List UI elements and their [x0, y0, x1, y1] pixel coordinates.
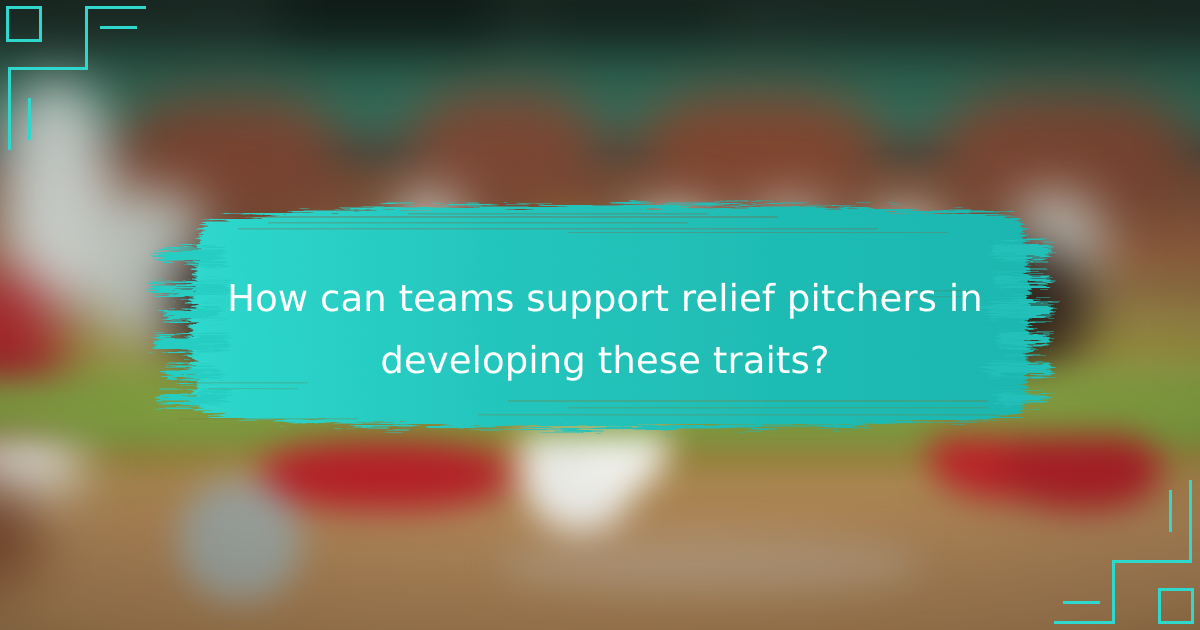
corner-line-vertical-outer	[1189, 480, 1192, 563]
corner-frame-top-left	[0, 0, 170, 170]
corner-line-vertical-outer	[8, 67, 11, 150]
corner-square-icon	[1158, 588, 1194, 624]
corner-line-horizontal-outer	[88, 6, 146, 9]
corner-square-icon	[6, 6, 42, 42]
corner-line-vertical-step	[85, 6, 88, 70]
corner-line-horizontal-outer	[1054, 621, 1112, 624]
corner-line-horizontal-inner	[1063, 601, 1100, 604]
corner-line-vertical-inner	[1169, 490, 1172, 532]
page-title: How can teams support relief pitchers in…	[205, 268, 1005, 392]
corner-line-horizontal-step	[1112, 560, 1192, 563]
corner-line-vertical-inner	[28, 98, 31, 140]
corner-line-vertical-step	[1112, 560, 1115, 624]
corner-line-horizontal-step	[8, 67, 88, 70]
corner-frame-bottom-right	[1030, 460, 1200, 630]
quote-card: How can teams support relief pitchers in…	[0, 0, 1200, 630]
corner-line-horizontal-inner	[100, 26, 137, 29]
